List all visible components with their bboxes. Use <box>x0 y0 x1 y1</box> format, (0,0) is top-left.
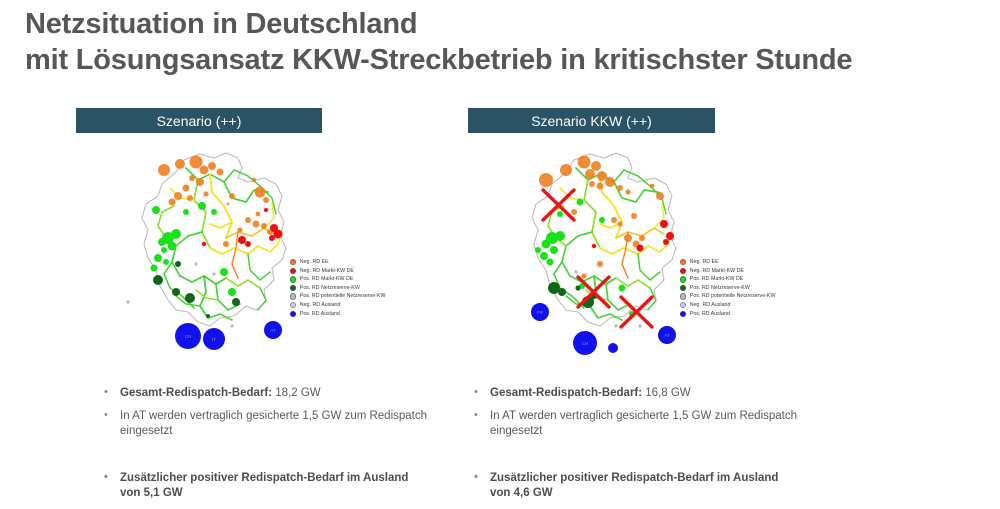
legend-color-swatch-icon <box>680 311 686 317</box>
legend-item: Pos. RD potentielle Netzreserve-KW <box>680 292 775 301</box>
svg-text:AT: AT <box>270 328 276 333</box>
scenario-panel-left: CH IT AT Neg. RD EENeg. RD Markt-KW DEPo… <box>100 140 520 380</box>
scenario-header-left: Szenario (++) <box>76 108 322 133</box>
legend-item-label: Pos. RD Markt-KW DE <box>690 275 744 284</box>
title-line-1: Netzsituation in Deutschland <box>25 6 985 42</box>
legend-item-label: Pos. RD Ausland <box>300 310 340 319</box>
legend-item-label: Neg. RD EE <box>300 258 329 267</box>
svg-text:AT: AT <box>664 333 670 338</box>
legend-item-label: Pos. RD Markt-KW DE <box>300 275 354 284</box>
legend-color-swatch-icon <box>290 302 296 308</box>
legend-color-swatch-icon <box>290 276 296 282</box>
legend-color-swatch-icon <box>290 293 296 299</box>
legend-item: Pos. RD Ausland <box>680 310 775 319</box>
svg-text:CH: CH <box>185 334 192 339</box>
legend-color-swatch-icon <box>680 276 686 282</box>
map-legend-right: Neg. RD EENeg. RD Markt-KW DEPos. RD Mar… <box>680 258 775 318</box>
bullet-text: Zusätzlicher positiver Redispatch-Bedarf… <box>490 472 778 499</box>
legend-item-label: Pos. RD potentielle Netzreserve-KW <box>300 292 386 301</box>
legend-color-swatch-icon <box>680 293 686 299</box>
bullet-item: Gesamt-Redispatch-Bedarf: 18,2 GW <box>100 386 430 401</box>
bullet-text: In AT werden vertraglich gesicherte 1,5 … <box>120 410 427 437</box>
legend-color-swatch-icon <box>290 311 296 317</box>
legend-item: Pos. RD Markt-KW DE <box>290 275 385 284</box>
legend-color-swatch-icon <box>680 259 686 265</box>
legend-item-label: Pos. RD Netzreserve-KW <box>300 284 360 293</box>
legend-item-label: Pos. RD potentielle Netzreserve-KW <box>690 292 776 301</box>
legend-color-swatch-icon <box>290 259 296 265</box>
foreign-nodes: CH IT AT <box>175 321 282 350</box>
legend-item: Neg. RD Markt-KW DE <box>290 267 385 276</box>
svg-text:CH: CH <box>582 341 589 346</box>
bullet-list-left: Gesamt-Redispatch-Bedarf: 18,2 GWIn AT w… <box>100 386 430 509</box>
legend-color-swatch-icon <box>680 268 686 274</box>
map-legend-left: Neg. RD EENeg. RD Markt-KW DEPos. RD Mar… <box>290 258 385 318</box>
legend-color-swatch-icon <box>680 285 686 291</box>
legend-item-label: Pos. RD Ausland <box>690 310 730 319</box>
legend-item-label: Neg. RD Markt-KW DE <box>300 267 354 276</box>
bullet-item: Zusätzlicher positiver Redispatch-Bedarf… <box>100 471 430 501</box>
svg-text:FR: FR <box>537 310 544 315</box>
legend-item-label: Pos. RD Netzreserve-KW <box>690 284 750 293</box>
map-svg-right: FR CH AT <box>504 140 704 370</box>
legend-item: Neg. RD Markt-KW DE <box>680 267 775 276</box>
bullet-item: Gesamt-Redispatch-Bedarf: 16,8 GW <box>470 386 800 401</box>
map-svg-left: CH IT AT <box>114 140 314 370</box>
germany-grid-map-left: CH IT AT <box>114 140 314 370</box>
legend-item: Neg. RD Ausland <box>680 301 775 310</box>
bullet-bold-prefix: Gesamt-Redispatch-Bedarf: <box>120 387 272 399</box>
legend-item-label: Neg. RD EE <box>690 258 719 267</box>
legend-item-label: Neg. RD Ausland <box>690 301 731 310</box>
legend-item: Pos. RD Markt-KW DE <box>680 275 775 284</box>
bullet-text: In AT werden vertraglich gesicherte 1,5 … <box>490 410 797 437</box>
bullet-item: In AT werden vertraglich gesicherte 1,5 … <box>100 409 430 439</box>
legend-item: Pos. RD Ausland <box>290 310 385 319</box>
title-line-2: mit Lösungsansatz KKW-Streckbetrieb in k… <box>25 42 985 78</box>
page-title: Netzsituation in Deutschland mit Lösungs… <box>25 6 985 78</box>
legend-item: Neg. RD EE <box>290 258 385 267</box>
slide: Netzsituation in Deutschland mit Lösungs… <box>0 0 1000 506</box>
bullet-item: Zusätzlicher positiver Redispatch-Bedarf… <box>470 471 800 501</box>
legend-item: Neg. RD Ausland <box>290 301 385 310</box>
legend-item: Pos. RD Netzreserve-KW <box>680 284 775 293</box>
scenario-header-right: Szenario KKW (++) <box>468 108 715 133</box>
legend-item: Pos. RD potentielle Netzreserve-KW <box>290 292 385 301</box>
legend-item: Pos. RD Netzreserve-KW <box>290 284 385 293</box>
bullet-item: In AT werden vertraglich gesicherte 1,5 … <box>470 409 800 439</box>
legend-color-swatch-icon <box>290 285 296 291</box>
bullet-bold-prefix: Gesamt-Redispatch-Bedarf: <box>490 387 642 399</box>
legend-item-label: Neg. RD Ausland <box>300 301 341 310</box>
bullet-text: 18,2 GW <box>272 387 321 399</box>
bullet-text: Zusätzlicher positiver Redispatch-Bedarf… <box>120 472 408 499</box>
bullet-list-right: Gesamt-Redispatch-Bedarf: 16,8 GWIn AT w… <box>470 386 800 509</box>
bullet-text: 16,8 GW <box>642 387 691 399</box>
germany-grid-map-right: FR CH AT <box>504 140 704 370</box>
scenario-panel-right: FR CH AT Neg. RD EENeg. RD Markt-KW DEPo… <box>490 140 910 380</box>
legend-color-swatch-icon <box>290 268 296 274</box>
legend-color-swatch-icon <box>680 302 686 308</box>
svg-text:IT: IT <box>212 337 216 342</box>
legend-item: Neg. RD EE <box>680 258 775 267</box>
legend-item-label: Neg. RD Markt-KW DE <box>690 267 744 276</box>
